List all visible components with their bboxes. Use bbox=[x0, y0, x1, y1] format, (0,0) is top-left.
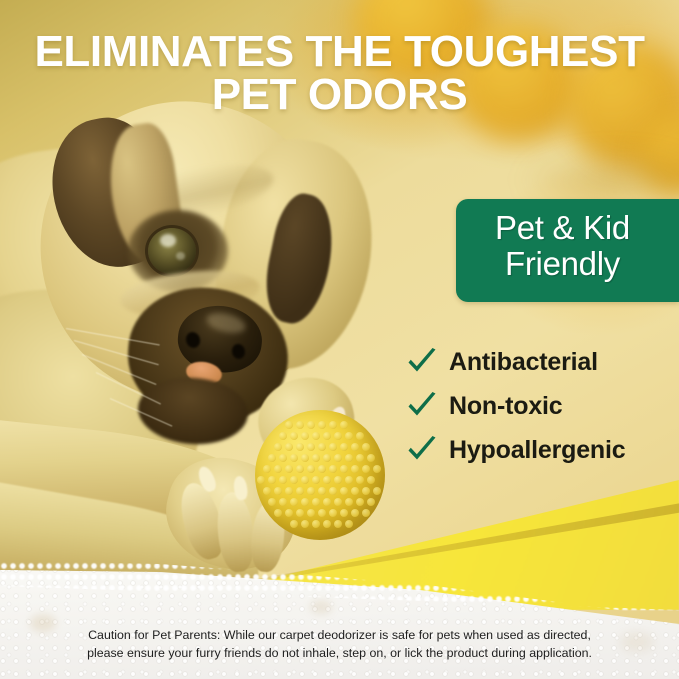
badge-text: Pet & Kid Friendly bbox=[456, 210, 669, 281]
feature-label: Antibacterial bbox=[449, 348, 598, 377]
feature-item-non-toxic: Non-toxic bbox=[406, 384, 679, 428]
caution-line-1: Caution for Pet Parents: While our carpe… bbox=[24, 626, 655, 644]
badge-line-1: Pet & Kid bbox=[456, 210, 669, 246]
headline-line-2: PET ODORS bbox=[20, 73, 659, 116]
spiky-dog-ball bbox=[255, 410, 385, 540]
caution-disclaimer: Caution for Pet Parents: While our carpe… bbox=[24, 626, 655, 663]
feature-list: Antibacterial Non-toxic Hypoallergenic bbox=[406, 340, 679, 472]
feature-label: Non-toxic bbox=[449, 392, 562, 421]
carpet-spot bbox=[310, 600, 332, 614]
feature-item-hypoallergenic: Hypoallergenic bbox=[406, 428, 679, 472]
product-infographic: ELIMINATES THE TOUGHEST PET ODORS Pet & … bbox=[0, 0, 679, 679]
check-icon bbox=[406, 391, 438, 421]
check-icon bbox=[406, 347, 438, 377]
check-icon bbox=[406, 435, 438, 465]
pet-kid-friendly-badge: Pet & Kid Friendly bbox=[456, 199, 679, 302]
badge-line-2: Friendly bbox=[456, 246, 669, 282]
headline-line-1: ELIMINATES THE TOUGHEST bbox=[20, 30, 659, 73]
caution-line-2: please ensure your furry friends do not … bbox=[24, 644, 655, 662]
feature-label: Hypoallergenic bbox=[449, 436, 625, 465]
feature-item-antibacterial: Antibacterial bbox=[406, 340, 679, 384]
headline: ELIMINATES THE TOUGHEST PET ODORS bbox=[20, 30, 659, 116]
